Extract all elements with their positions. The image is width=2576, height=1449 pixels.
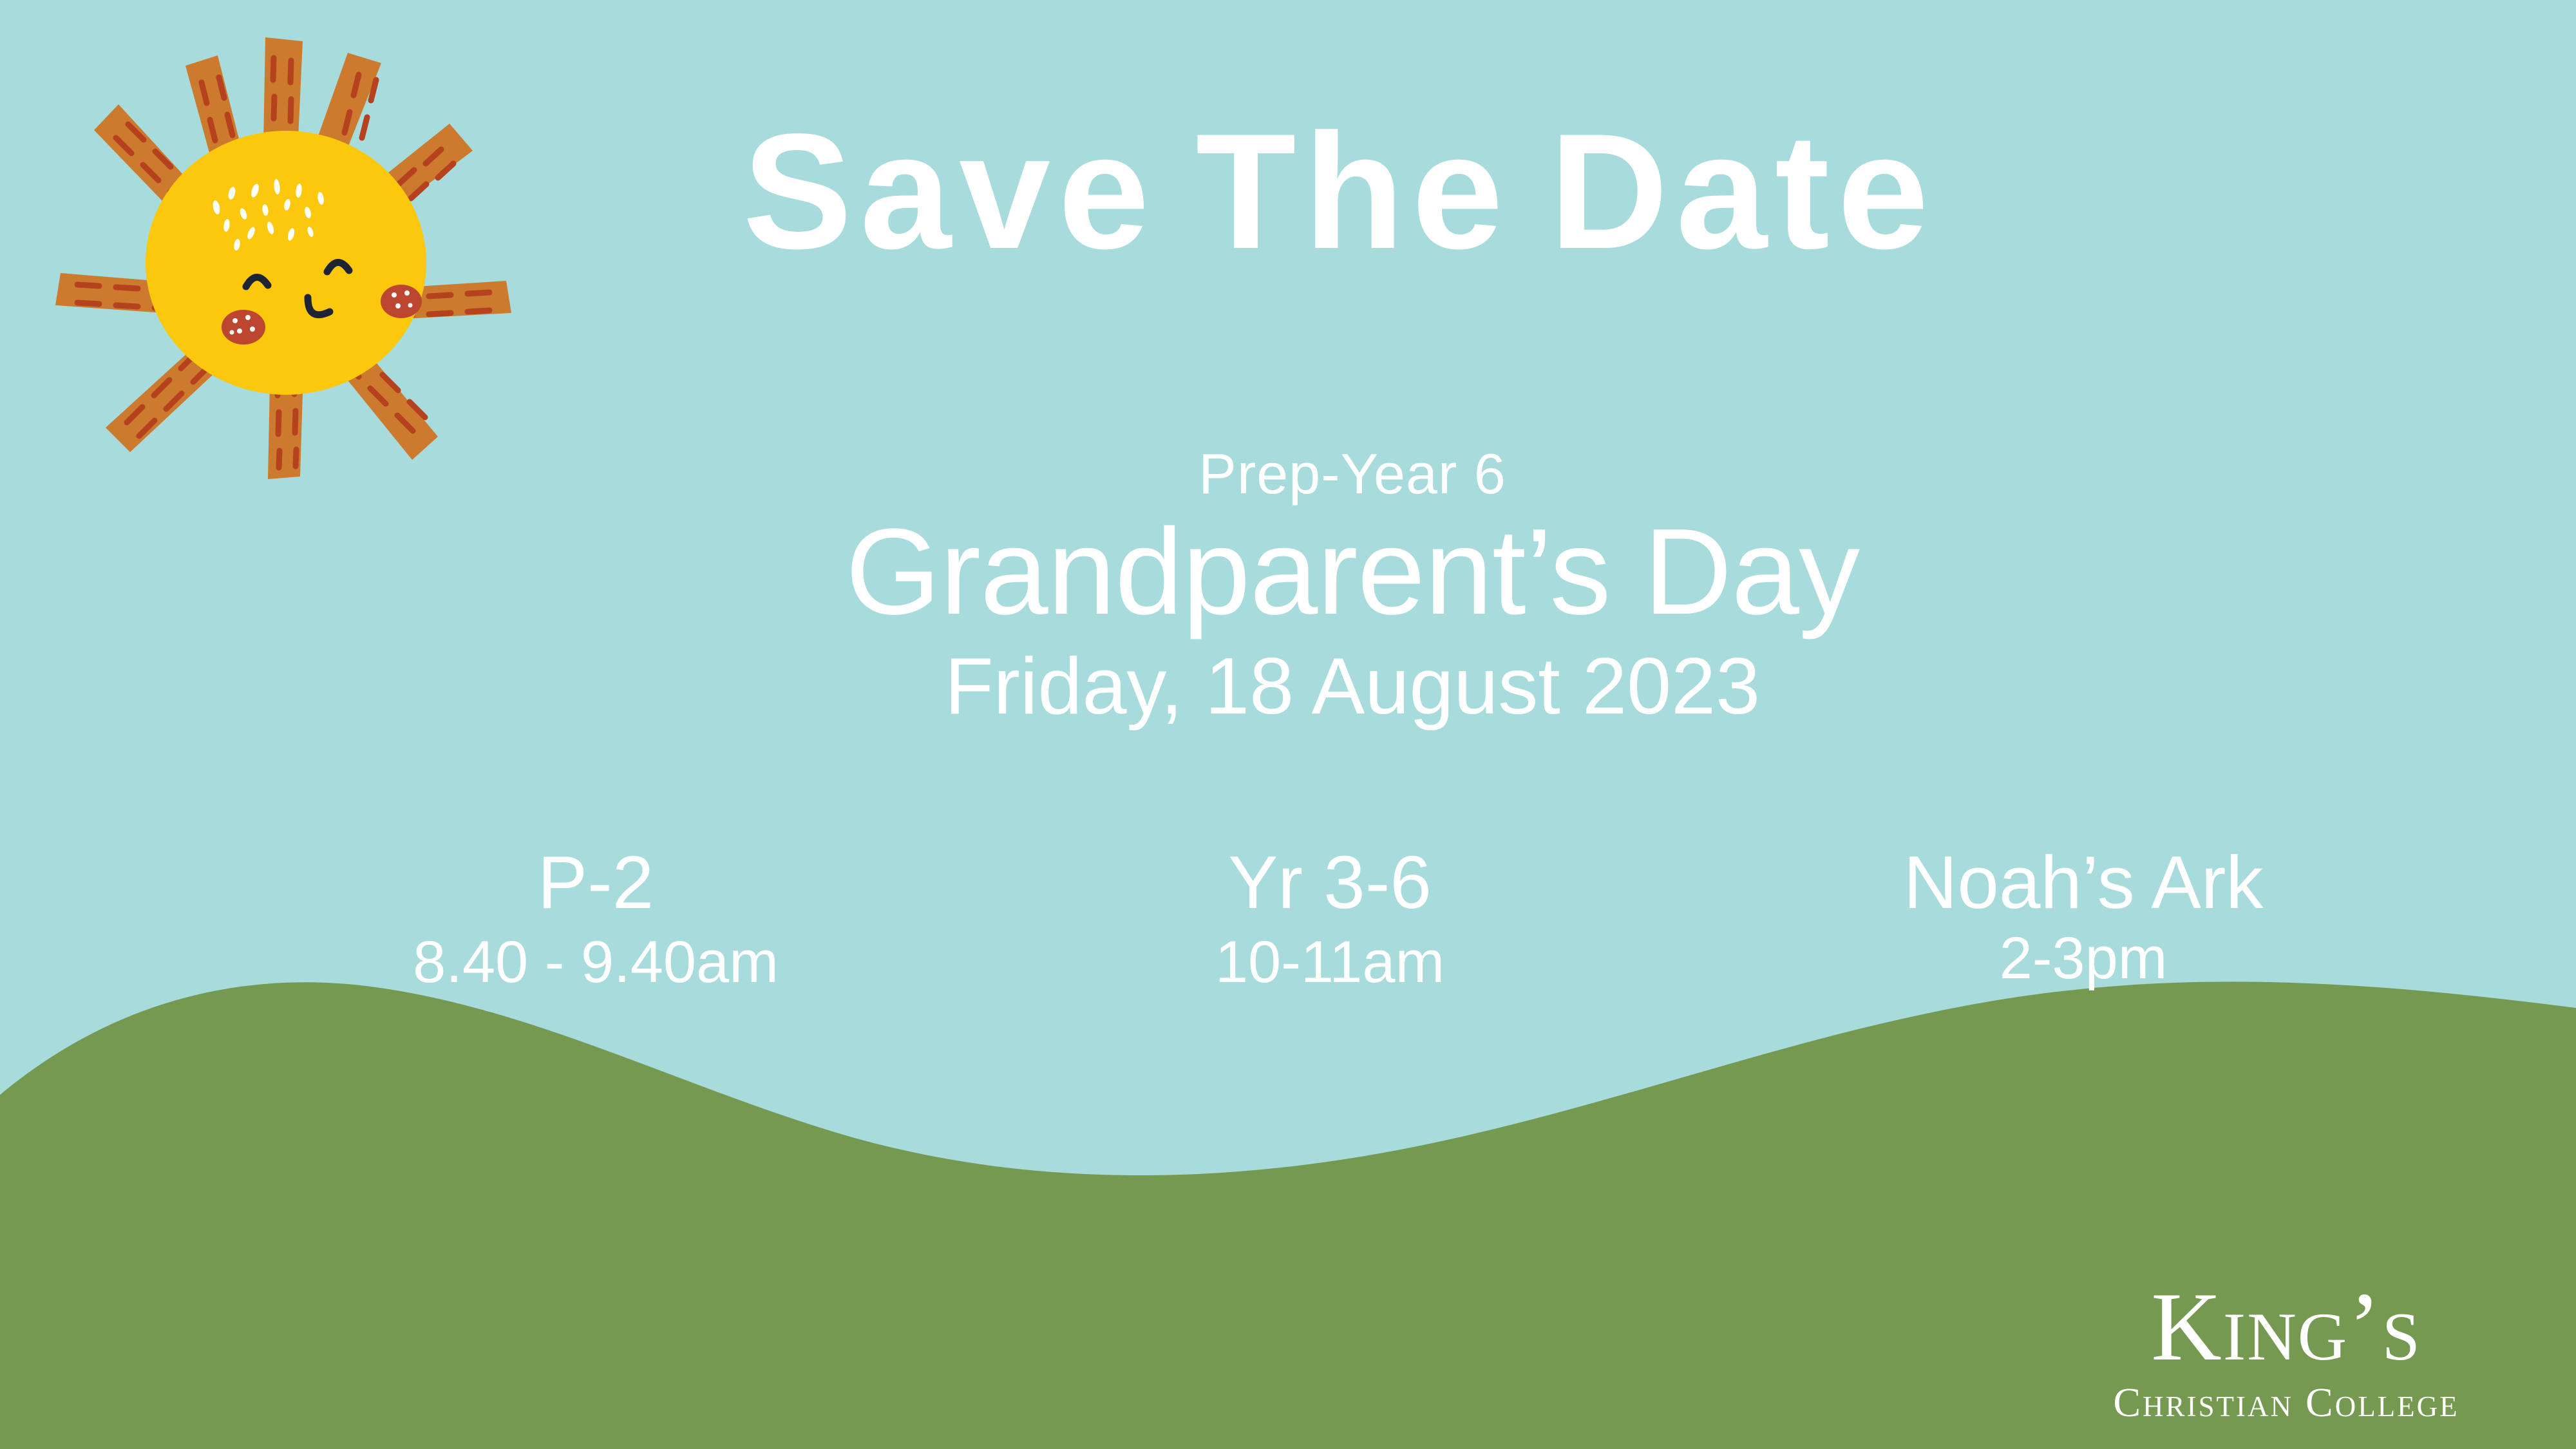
school-logo: King’s Christian College [2074, 1278, 2499, 1423]
session-name: Noah’s Ark [1752, 844, 2415, 922]
event-title: Grandparent’s Day [644, 507, 2061, 637]
sun-body [146, 131, 426, 395]
headline-word-1: Save [743, 109, 1157, 274]
logo-primary-text: King’s [2074, 1278, 2499, 1376]
session-name: Yr 3-6 [985, 844, 1674, 922]
save-the-date-poster: SaveTheDate Prep-Year 6 Grandparent’s Da… [0, 0, 2576, 1449]
smiling-sun-illustration [39, 32, 528, 483]
session-time: 2-3pm [1752, 926, 2415, 991]
session-time: 8.40 - 9.40am [225, 930, 966, 995]
headline-word-2: The [1196, 109, 1511, 274]
session-column-noahs-ark: Noah’s Ark 2-3pm [1674, 844, 2415, 991]
session-name: P-2 [225, 844, 966, 922]
session-times-row: P-2 8.40 - 9.40am Yr 3-6 10-11am Noah’s … [225, 844, 2415, 995]
page-title: SaveTheDate [567, 109, 2112, 274]
event-date: Friday, 18 August 2023 [644, 643, 2061, 730]
event-year-range: Prep-Year 6 [644, 444, 2061, 504]
session-time: 10-11am [985, 930, 1674, 995]
session-column-yr-3-6: Yr 3-6 10-11am [966, 844, 1674, 995]
event-details: Prep-Year 6 Grandparent’s Day Friday, 18… [644, 444, 2061, 730]
headline-word-3: Date [1549, 109, 1937, 274]
session-column-p-2: P-2 8.40 - 9.40am [225, 844, 966, 995]
logo-secondary-text: Christian College [2074, 1382, 2499, 1423]
